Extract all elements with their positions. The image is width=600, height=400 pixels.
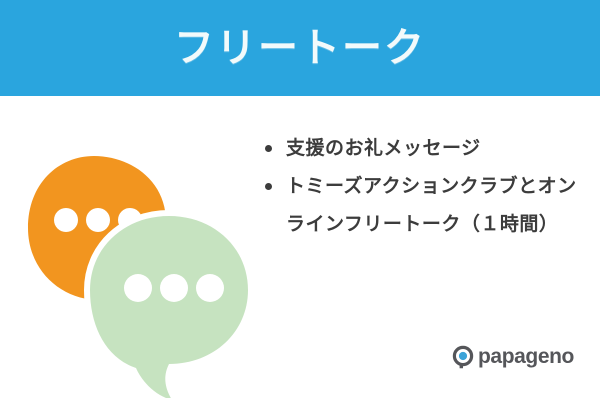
list-item: トミーズアクションクラブとオンラインフリートーク（１時間） bbox=[262, 168, 582, 244]
slide-root: フリートーク bbox=[0, 0, 600, 400]
papageno-logo: papageno bbox=[452, 345, 574, 369]
papageno-logo-text: papageno bbox=[478, 345, 574, 369]
papageno-mark-icon bbox=[452, 345, 476, 369]
speech-bubbles-illustration bbox=[14, 118, 264, 398]
list-item-label: トミーズアクションクラブとオンラインフリートーク（１時間） bbox=[286, 168, 582, 244]
header-band: フリートーク bbox=[0, 0, 600, 96]
list-item-label: 支援のお礼メッセージ bbox=[286, 130, 582, 168]
bullet-dot-icon bbox=[265, 183, 272, 190]
bullet-dot-icon bbox=[265, 145, 272, 152]
list-item: 支援のお礼メッセージ bbox=[262, 130, 582, 168]
content-bullet-list: 支援のお礼メッセージ トミーズアクションクラブとオンラインフリートーク（１時間） bbox=[262, 130, 582, 244]
page-title: フリートーク bbox=[174, 28, 426, 68]
